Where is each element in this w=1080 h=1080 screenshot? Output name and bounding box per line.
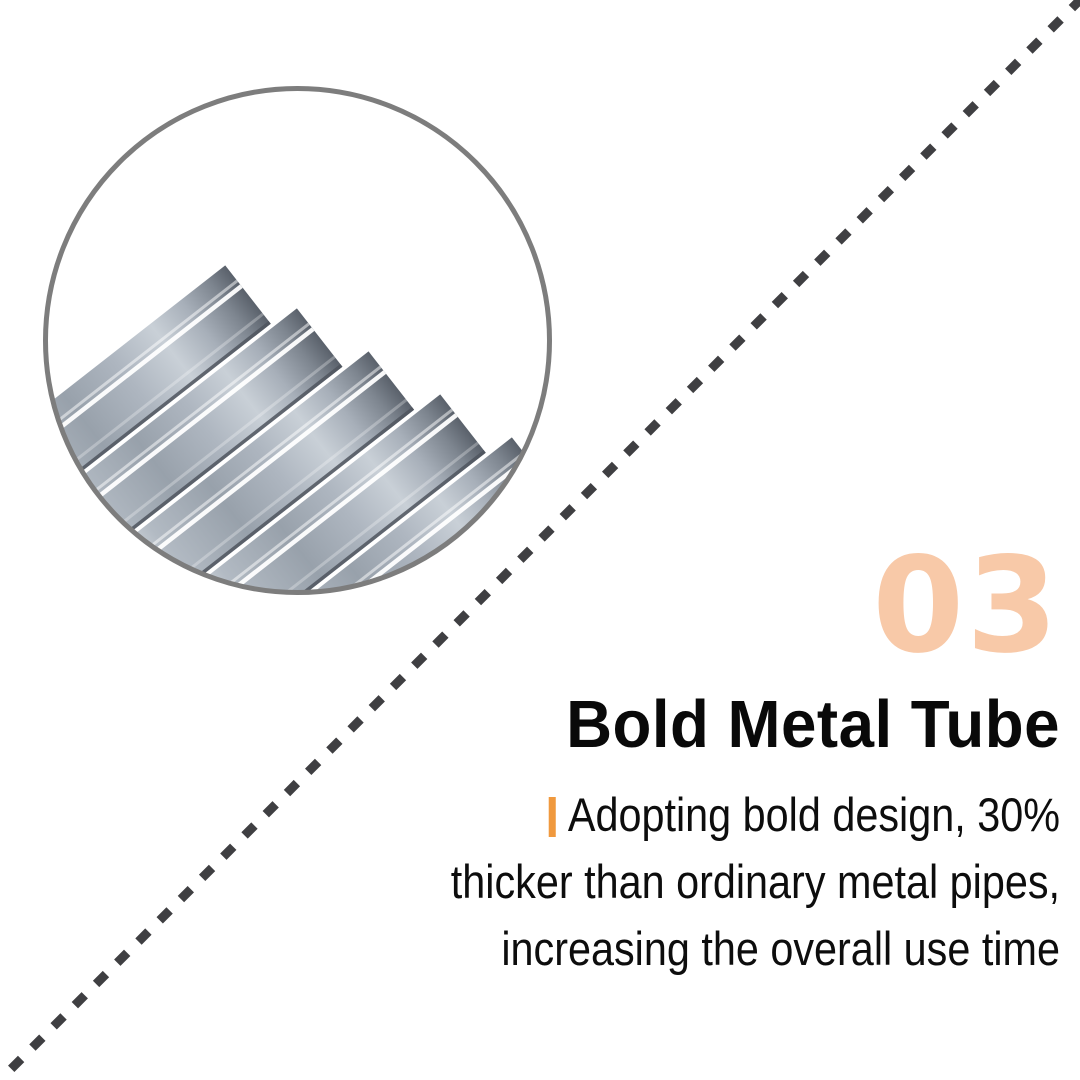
feature-text-column: 03 Bold Metal Tube Adopting bold design,…: [180, 540, 1060, 983]
product-feature-slide: 03 Bold Metal Tube Adopting bold design,…: [0, 0, 1080, 1080]
description-line-1: Adopting bold design, 30%: [286, 782, 1060, 849]
description-line-2: thicker than ordinary metal pipes,: [286, 849, 1060, 916]
description-line-1-text: Adopting bold design, 30%: [568, 782, 1060, 849]
accent-bar-icon: [549, 797, 556, 837]
page-title: Bold Metal Tube: [224, 690, 1060, 760]
description-line-3: increasing the overall use time: [286, 916, 1060, 983]
description-block: Adopting bold design, 30% thicker than o…: [180, 782, 1060, 982]
product-photo-circle: [42, 85, 553, 596]
step-number: 03: [180, 540, 1060, 672]
